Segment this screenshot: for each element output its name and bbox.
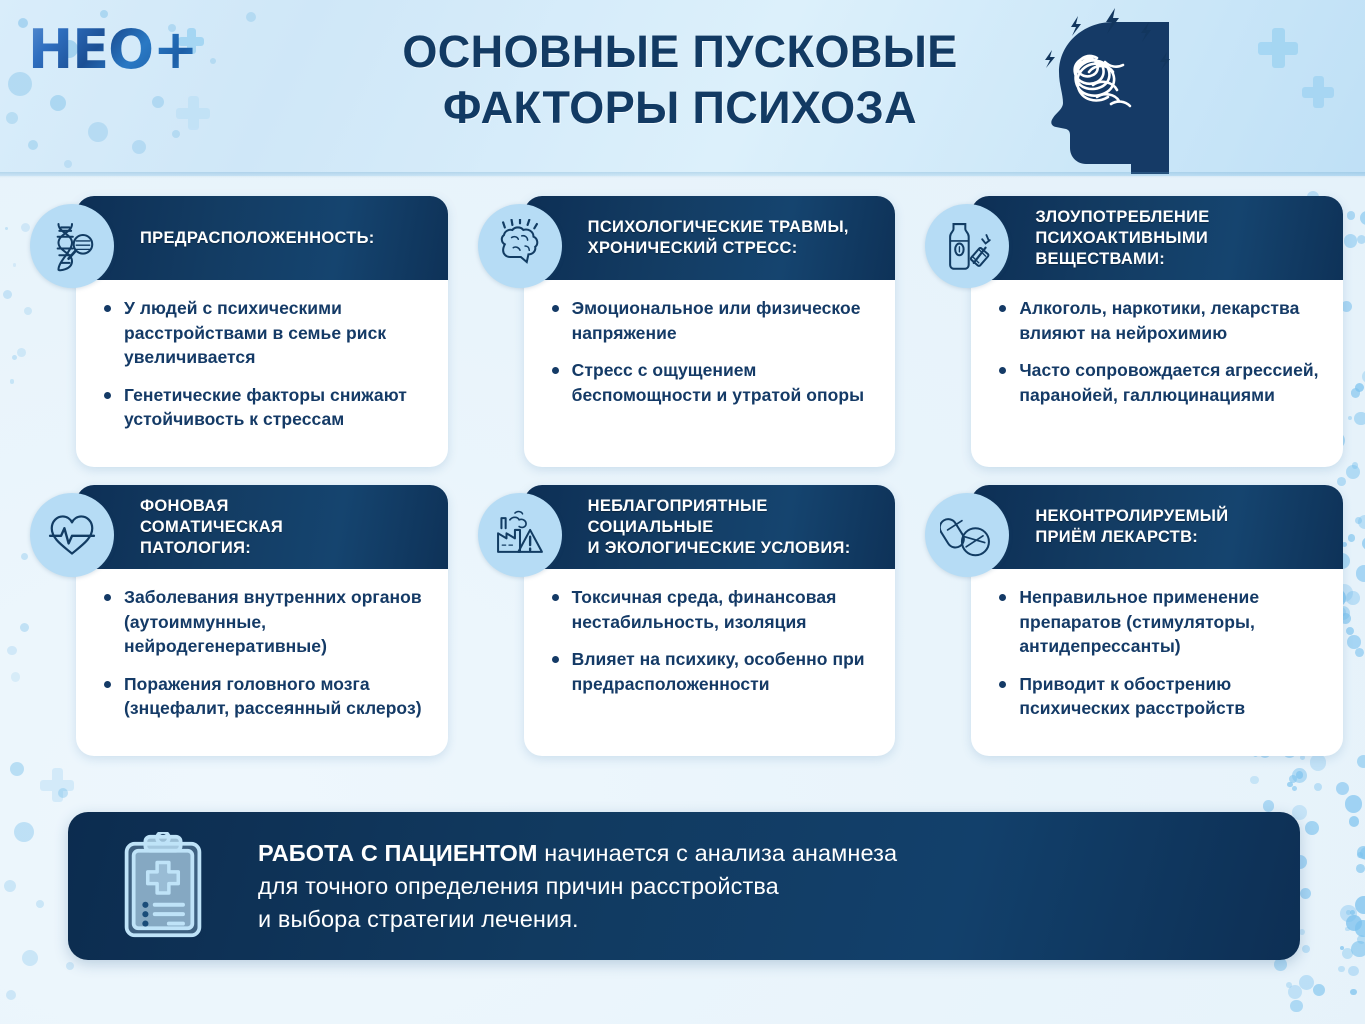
decorative-dot	[100, 10, 108, 18]
factor-card-trauma-stress[interactable]: ПСИХОЛОГИЧЕСКИЕ ТРАВМЫ, ХРОНИЧЕСКИЙ СТРЕ…	[470, 196, 896, 467]
summary-banner-text: РАБОТА С ПАЦИЕНТОМ начинается с анализа …	[258, 837, 927, 936]
factory-warning-icon	[478, 493, 562, 577]
card-body: Заболевания внутренних органов (аутоимму…	[76, 569, 448, 735]
card-title-line: СОМАТИЧЕСКАЯ	[140, 517, 283, 538]
bullet-list: Эмоциональное или физическое напряжение …	[548, 296, 876, 407]
card-body: Токсичная среда, финансовая нестабильнос…	[524, 569, 896, 710]
decorative-dot	[210, 58, 216, 64]
list-item: У людей с психическими расстройствами в …	[100, 296, 428, 370]
card-title-line: ЗЛОУПОТРЕБЛЕНИЕ	[1035, 207, 1209, 228]
list-item: Приводит к обострению психических расстр…	[995, 672, 1323, 721]
list-item: Неправильное применение препаратов (стим…	[995, 585, 1323, 659]
card-title-line: ПРЕДРАСПОЛОЖЕННОСТЬ:	[140, 228, 375, 249]
card-title-line: ПАТОЛОГИЯ:	[140, 538, 283, 559]
list-item: Алкоголь, наркотики, лекарства влияют на…	[995, 296, 1323, 345]
decorative-plus-icon	[176, 96, 210, 130]
list-item: Токсичная среда, финансовая нестабильнос…	[548, 585, 876, 634]
list-item: Стресс с ощущением беспомощности и утрат…	[548, 358, 876, 407]
card-title-line: ВЕЩЕСТВАМИ:	[1035, 249, 1209, 270]
page-title-line-1: ОСНОВНЫЕ ПУСКОВЫЕ	[330, 24, 1030, 80]
dna-magnifier-icon	[30, 204, 114, 288]
summary-banner: РАБОТА С ПАЦИЕНТОМ начинается с анализа …	[68, 812, 1300, 960]
stressed-brain-icon	[478, 204, 562, 288]
card-header: ПСИХОЛОГИЧЕСКИЕ ТРАВМЫ, ХРОНИЧЕСКИЙ СТРЕ…	[524, 196, 896, 280]
decorative-dot	[64, 160, 72, 168]
card-title-line: И ЭКОЛОГИЧЕСКИЕ УСЛОВИЯ:	[588, 538, 851, 559]
decorative-dot	[132, 140, 146, 154]
card-title: ПРЕДРАСПОЛОЖЕННОСТЬ:	[140, 228, 375, 249]
card-header: НЕКОНТРОЛИРУЕМЫЙ ПРИЁМ ЛЕКАРСТВ:	[971, 485, 1343, 569]
card-header: ФОНОВАЯ СОМАТИЧЕСКАЯ ПАТОЛОГИЯ:	[76, 485, 448, 569]
decorative-dot	[6, 112, 18, 124]
card-body: Эмоциональное или физическое напряжение …	[524, 280, 896, 421]
card-body: У людей с психическими расстройствами в …	[76, 280, 448, 446]
brand-logo[interactable]: НЕО+	[28, 20, 198, 80]
factor-card-social-ecological[interactable]: НЕБЛАГОПРИЯТНЫЕ СОЦИАЛЬНЫЕ И ЭКОЛОГИЧЕСК…	[470, 485, 896, 756]
card-header: ПРЕДРАСПОЛОЖЕННОСТЬ:	[76, 196, 448, 280]
card-title: НЕКОНТРОЛИРУЕМЫЙ ПРИЁМ ЛЕКАРСТВ:	[1035, 506, 1228, 548]
card-body: Неправильное применение препаратов (стим…	[971, 569, 1343, 735]
decorative-dot	[28, 140, 38, 150]
factor-card-grid: ПРЕДРАСПОЛОЖЕННОСТЬ: У людей с психическ…	[0, 196, 1365, 756]
bullet-list: Неправильное применение препаратов (стим…	[995, 585, 1323, 721]
bullet-list: У людей с психическими расстройствами в …	[100, 296, 428, 432]
banner-line-1-rest: начинается с анализа анамнеза	[538, 840, 898, 866]
bullet-list: Заболевания внутренних органов (аутоимму…	[100, 585, 428, 721]
decorative-plus-icon	[1302, 76, 1334, 108]
banner-lead: РАБОТА С ПАЦИЕНТОМ	[258, 840, 538, 866]
bullet-list: Токсичная среда, финансовая нестабильнос…	[548, 585, 876, 696]
factor-card-substance-abuse[interactable]: ЗЛОУПОТРЕБЛЕНИЕ ПСИХОАКТИВНЫМИ ВЕЩЕСТВАМ…	[917, 196, 1343, 467]
page-title: ОСНОВНЫЕ ПУСКОВЫЕ ФАКТОРЫ ПСИХОЗА	[330, 24, 1030, 136]
card-title: ЗЛОУПОТРЕБЛЕНИЕ ПСИХОАКТИВНЫМИ ВЕЩЕСТВАМ…	[1035, 207, 1209, 270]
card-title: ПСИХОЛОГИЧЕСКИЕ ТРАВМЫ, ХРОНИЧЕСКИЙ СТРЕ…	[588, 217, 849, 259]
decorative-plus-icon	[1258, 28, 1298, 68]
header-banner: НЕО+ ОСНОВНЫЕ ПУСКОВЫЕ ФАКТОРЫ ПСИХОЗА	[0, 0, 1365, 176]
list-item: Генетические факторы снижают устойчивост…	[100, 383, 428, 432]
factor-card-somatic-pathology[interactable]: ФОНОВАЯ СОМАТИЧЕСКАЯ ПАТОЛОГИЯ: Заболева…	[22, 485, 448, 756]
bullet-list: Алкоголь, наркотики, лекарства влияют на…	[995, 296, 1323, 407]
decorative-dot	[246, 12, 256, 22]
card-title: ФОНОВАЯ СОМАТИЧЕСКАЯ ПАТОЛОГИЯ:	[140, 496, 283, 559]
card-header: ЗЛОУПОТРЕБЛЕНИЕ ПСИХОАКТИВНЫМИ ВЕЩЕСТВАМ…	[971, 196, 1343, 280]
clipboard-medical-icon	[68, 832, 258, 940]
card-title-line: ХРОНИЧЕСКИЙ СТРЕСС:	[588, 238, 849, 259]
card-title-line: НЕКОНТРОЛИРУЕМЫЙ	[1035, 506, 1228, 527]
card-body: Алкоголь, наркотики, лекарства влияют на…	[971, 280, 1343, 421]
factor-card-predisposition[interactable]: ПРЕДРАСПОЛОЖЕННОСТЬ: У людей с психическ…	[22, 196, 448, 467]
card-title-line: ПСИХОЛОГИЧЕСКИЕ ТРАВМЫ,	[588, 217, 849, 238]
list-item: Поражения головного мозга (знцефалит, ра…	[100, 672, 428, 721]
decorative-dot	[18, 18, 28, 28]
card-title-line: НЕБЛАГОПРИЯТНЫЕ	[588, 496, 851, 517]
card-title: НЕБЛАГОПРИЯТНЫЕ СОЦИАЛЬНЫЕ И ЭКОЛОГИЧЕСК…	[588, 496, 851, 559]
banner-line-1: РАБОТА С ПАЦИЕНТОМ начинается с анализа …	[258, 837, 897, 870]
decorative-dot	[50, 95, 66, 111]
page-title-line-2: ФАКТОРЫ ПСИХОЗА	[330, 80, 1030, 136]
list-item: Эмоциональное или физическое напряжение	[548, 296, 876, 345]
list-item: Заболевания внутренних органов (аутоимму…	[100, 585, 428, 659]
head-with-tangled-thoughts-icon	[1045, 0, 1245, 176]
banner-line-3: и выбора стратегии лечения.	[258, 903, 897, 936]
decorative-dot	[172, 130, 180, 138]
card-title-line: ФОНОВАЯ	[140, 496, 283, 517]
card-title-line: СОЦИАЛЬНЫЕ	[588, 517, 851, 538]
card-title-line: ПРИЁМ ЛЕКАРСТВ:	[1035, 527, 1228, 548]
list-item: Влияет на психику, особенно при предрасп…	[548, 647, 876, 696]
decorative-dot	[152, 96, 164, 108]
decorative-dot	[88, 122, 108, 142]
list-item: Часто сопровождается агрессией, паранойе…	[995, 358, 1323, 407]
card-title-line: ПСИХОАКТИВНЫМИ	[1035, 228, 1209, 249]
pills-icon	[925, 493, 1009, 577]
bottle-syringe-icon	[925, 204, 1009, 288]
card-header: НЕБЛАГОПРИЯТНЫЕ СОЦИАЛЬНЫЕ И ЭКОЛОГИЧЕСК…	[524, 485, 896, 569]
banner-line-2: для точного определения причин расстройс…	[258, 870, 897, 903]
heart-pulse-icon	[30, 493, 114, 577]
factor-card-uncontrolled-medication[interactable]: НЕКОНТРОЛИРУЕМЫЙ ПРИЁМ ЛЕКАРСТВ: Неправи…	[917, 485, 1343, 756]
